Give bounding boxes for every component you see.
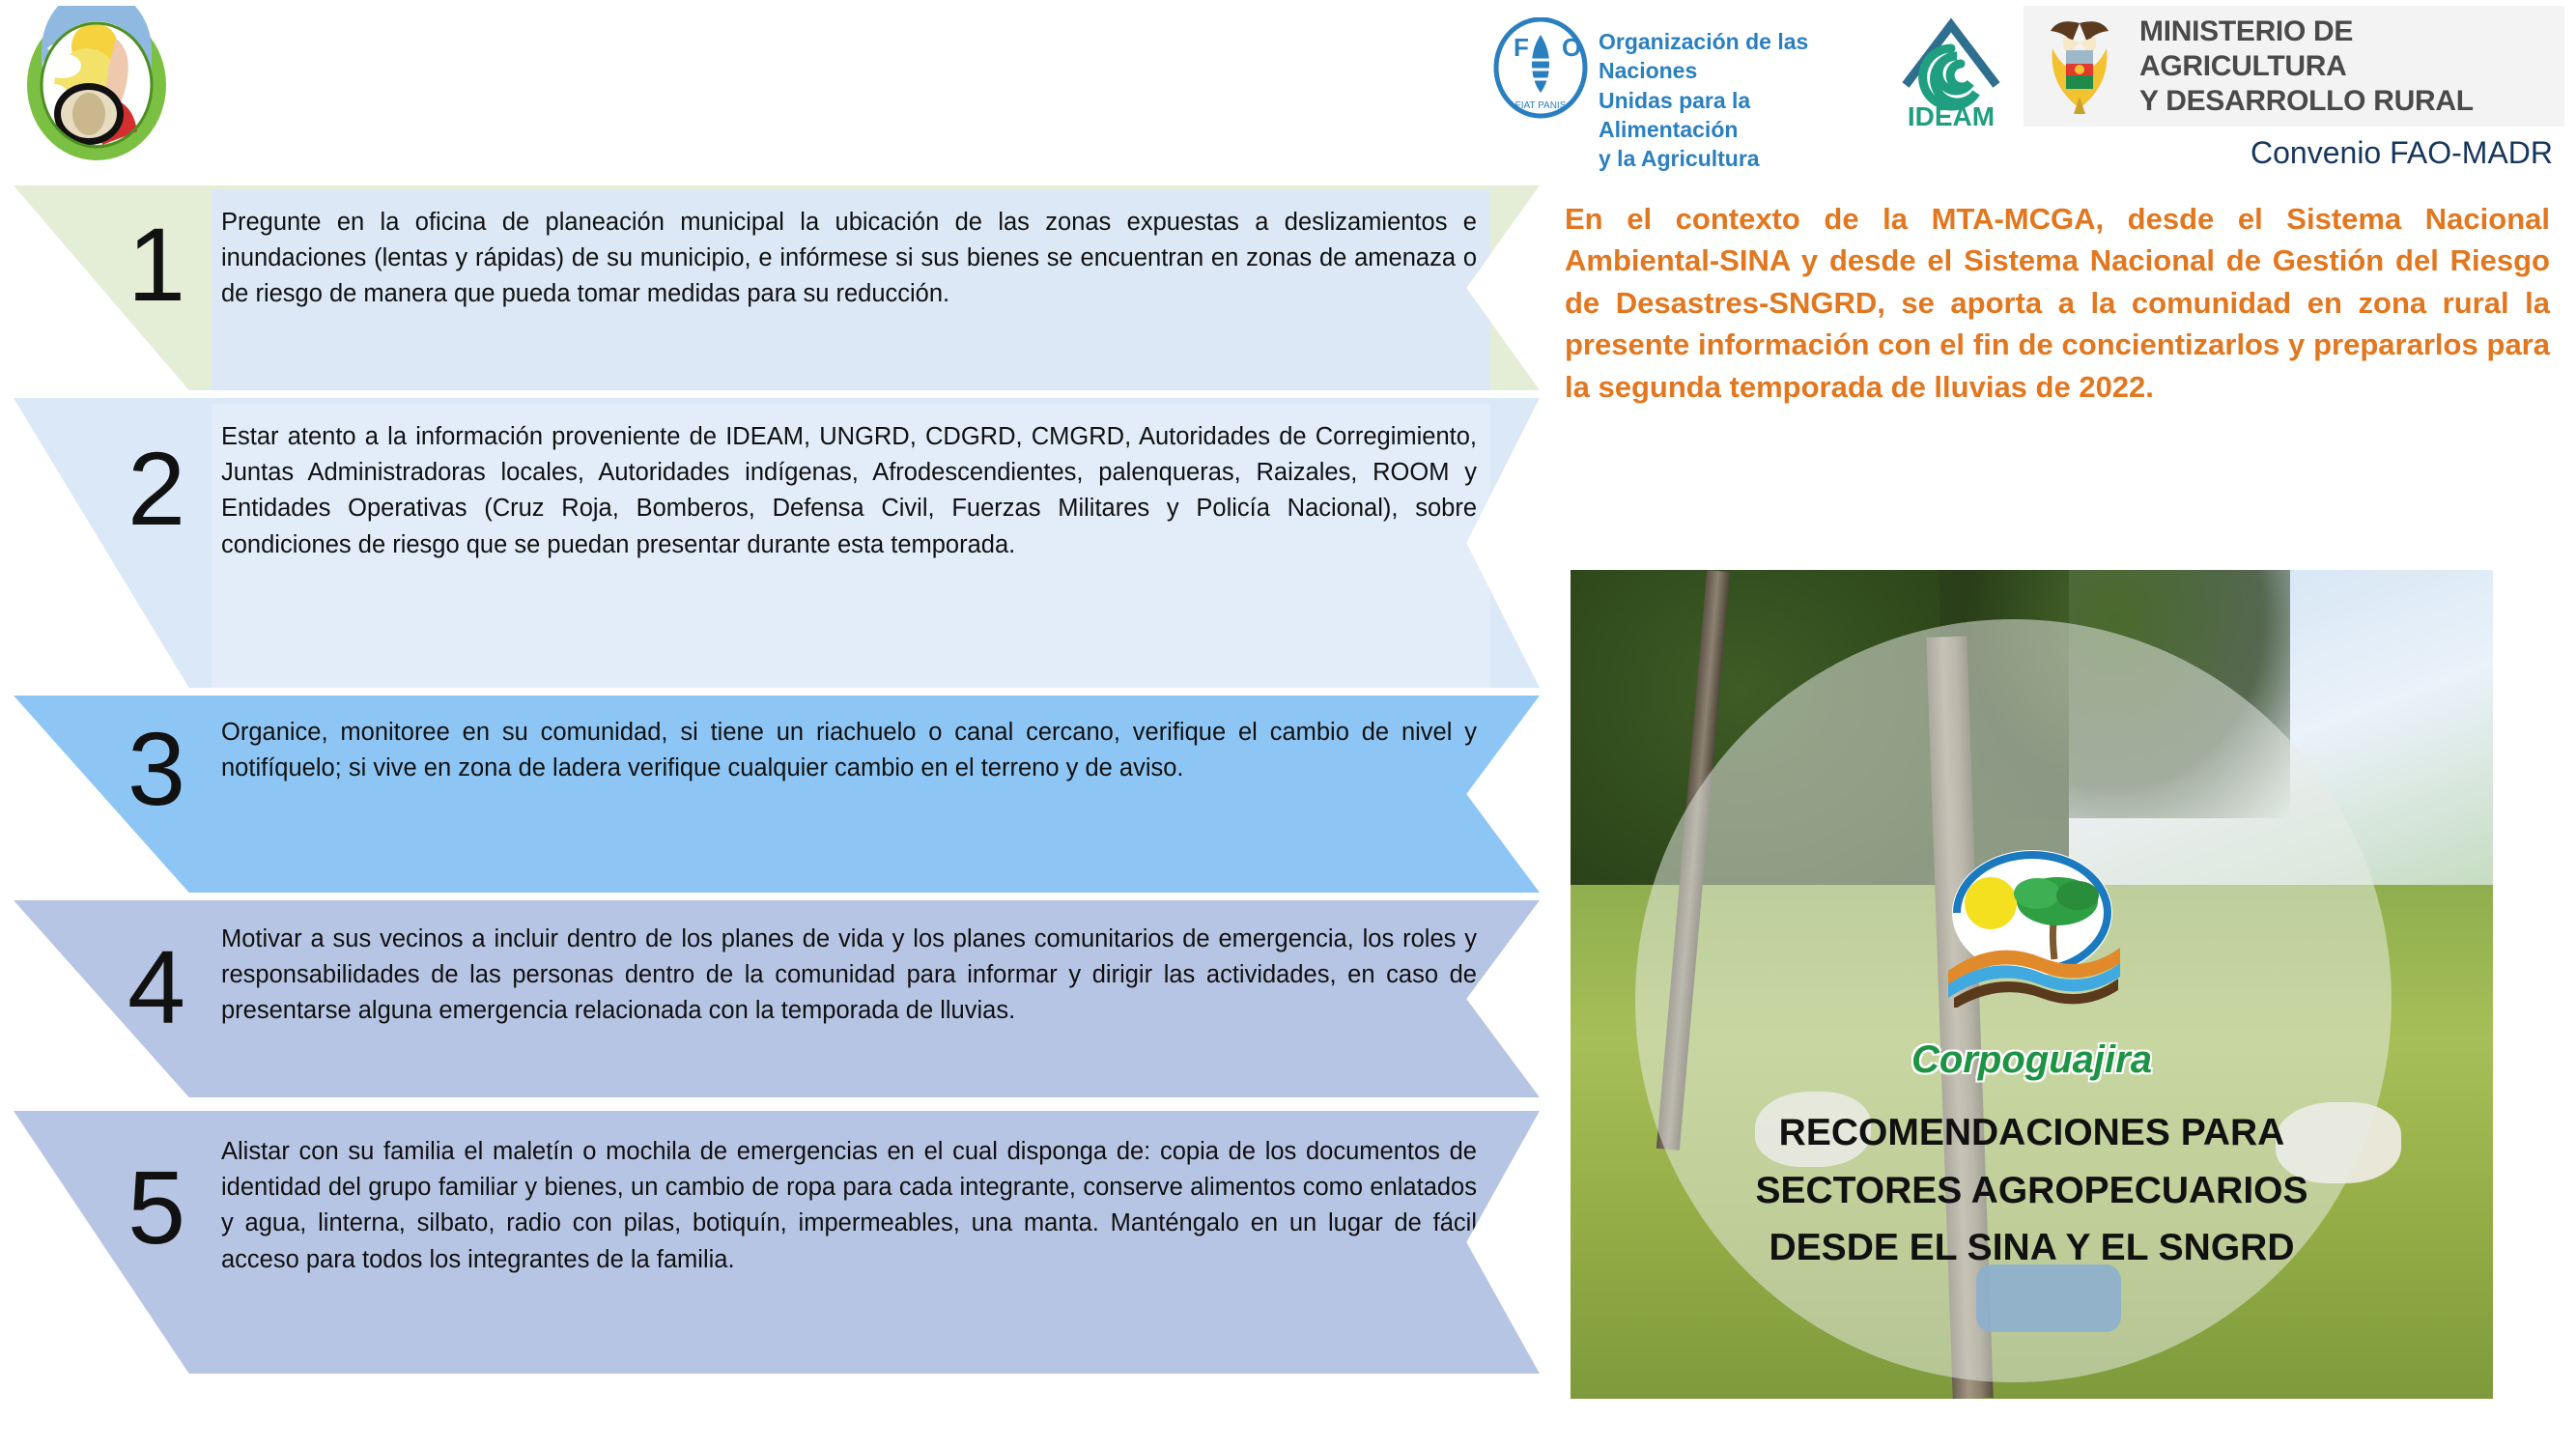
photo-title-line-2: SECTORES AGROPECUARIOS [1589, 1162, 2475, 1219]
ideam-logo: IDEAM [1898, 10, 2004, 130]
recommendation-text: Estar atento a la información provenient… [212, 404, 1490, 707]
madr-logo-block: MINISTERIO DE AGRICULTURA Y DESARROLLO R… [2024, 6, 2564, 127]
photo-overlay-content: Corpoguajira RECOMENDACIONES PARA SECTOR… [1571, 570, 2493, 1399]
svg-text:O: O [1562, 33, 1581, 62]
svg-text:FIAT PANIS: FIAT PANIS [1515, 100, 1567, 111]
colombia-coat-of-arms-icon [2041, 14, 2118, 120]
fao-line-3: y la Agricultura [1599, 144, 1888, 173]
recommendation-number: 4 [127, 935, 185, 1039]
recommendation-text: Motivar a sus vecinos a incluir dentro d… [212, 906, 1490, 1117]
photo-title-line-1: RECOMENDACIONES PARA [1589, 1104, 2475, 1161]
recommendation-text: Organice, monitoree en su comunidad, si … [212, 699, 1490, 914]
photo-title-line-3: DESDE EL SINA Y EL SNGRD [1589, 1219, 2475, 1276]
fao-name: Organización de las Naciones Unidas para… [1599, 27, 1888, 174]
recommendation-item-5: 5Alistar con su familia el maletín o moc… [14, 1111, 1540, 1374]
fao-line-2: Unidas para la Alimentación [1599, 86, 1888, 145]
corpoguajira-wordmark: Corpoguajira [1911, 1038, 2152, 1082]
photo-card: Corpoguajira RECOMENDACIONES PARA SECTOR… [1571, 570, 2493, 1399]
madr-line-1: MINISTERIO DE AGRICULTURA [2139, 14, 2564, 84]
recommendation-number: 2 [127, 437, 185, 541]
intro-paragraph: En el contexto de la MTA-MCGA, desde el … [1565, 198, 2550, 408]
madr-name: MINISTERIO DE AGRICULTURA Y DESARROLLO R… [2139, 14, 2564, 119]
recommendation-item-1: 1Pregunte en la oficina de planeación mu… [14, 185, 1540, 390]
fao-logo: F O FIAT PANIS [1492, 17, 1589, 119]
svg-text:F: F [1514, 33, 1529, 62]
recommendation-item-3: 3Organice, monitoree en su comunidad, si… [14, 696, 1540, 893]
recommendation-item-4: 4Motivar a sus vecinos a incluir dentro … [14, 900, 1540, 1097]
corpoguajira-logo-icon [1931, 843, 2134, 1008]
madr-line-2: Y DESARROLLO RURAL [2139, 84, 2564, 119]
recommendation-item-2: 2Estar atento a la información provenien… [14, 398, 1540, 688]
recommendation-text: Pregunte en la oficina de planeación mun… [212, 189, 1490, 404]
recommendation-text: Alistar con su familia el maletín o moch… [212, 1119, 1490, 1395]
page-header: F O FIAT PANIS Organización de las Nacio… [0, 0, 2576, 184]
recommendation-number: 5 [127, 1155, 185, 1260]
alcaldia-seal-logo [19, 6, 174, 165]
convenio-label: Convenio FAO-MADR [2250, 135, 2553, 171]
recommendation-number: 3 [127, 717, 185, 821]
fao-line-1: Organización de las Naciones [1599, 27, 1888, 86]
recommendation-number: 1 [127, 213, 185, 317]
ideam-label: IDEAM [1908, 101, 1995, 130]
photo-title: RECOMENDACIONES PARA SECTORES AGROPECUAR… [1589, 1104, 2475, 1276]
